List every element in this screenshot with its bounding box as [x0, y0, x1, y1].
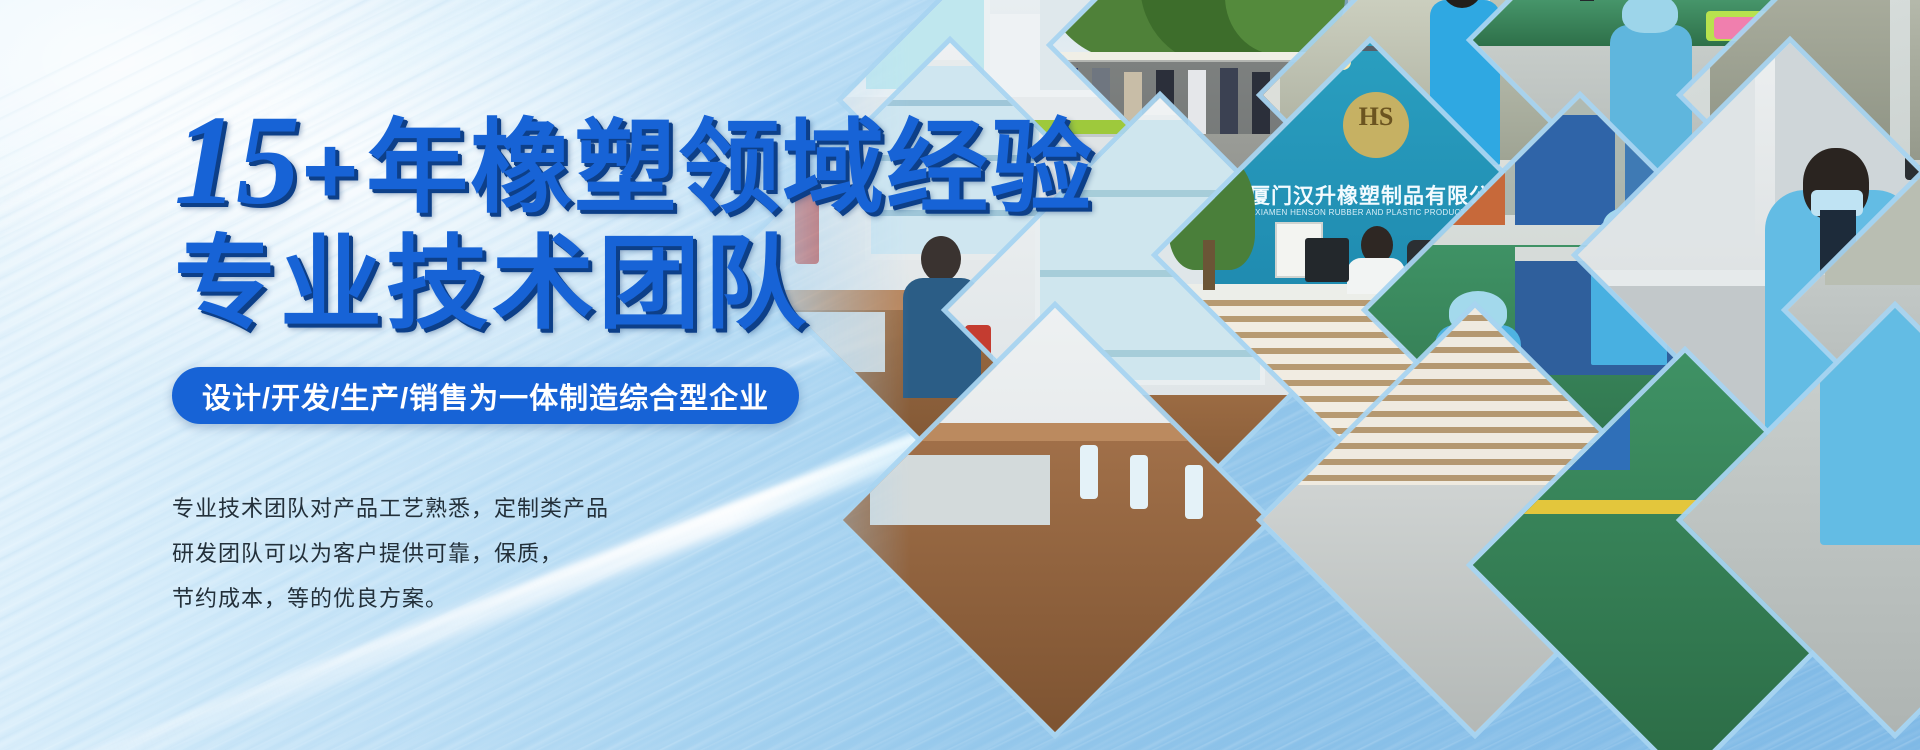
description-line-1: 专业技术团队对产品工艺熟悉，定制类产品 — [172, 486, 609, 531]
tagline-pill: 设计/开发/生产/销售为一体制造综合型企业 — [172, 367, 799, 424]
description-line-3: 节约成本，等的优良方案。 — [172, 576, 609, 621]
headline-line1-rest: 年橡塑领域经验 — [366, 111, 1094, 225]
promo-banner: HS 厦门汉升橡塑制品有限公司 XIAMEN HENSON RUBBER AND… — [0, 0, 1920, 750]
reception-logo-mark: HS — [1343, 102, 1409, 132]
tagline-pill-label: 设计/开发/生产/销售为一体制造综合型企业 — [202, 375, 769, 417]
banner-copy: 15+年橡塑领域经验 专业技术团队 设计/开发/生产/销售为一体制造综合型企业 … — [0, 0, 900, 750]
headline-number: 15 — [174, 89, 302, 231]
headline-line2: 专业技术团队 — [174, 232, 1094, 336]
description-paragraph: 专业技术团队对产品工艺熟悉，定制类产品 研发团队可以为客户提供可靠，保质， 节约… — [172, 486, 609, 621]
headline: 15+年橡塑领域经验 专业技术团队 — [174, 95, 1094, 336]
headline-plus: + — [302, 117, 366, 224]
description-line-2: 研发团队可以为客户提供可靠，保质， — [172, 531, 609, 576]
